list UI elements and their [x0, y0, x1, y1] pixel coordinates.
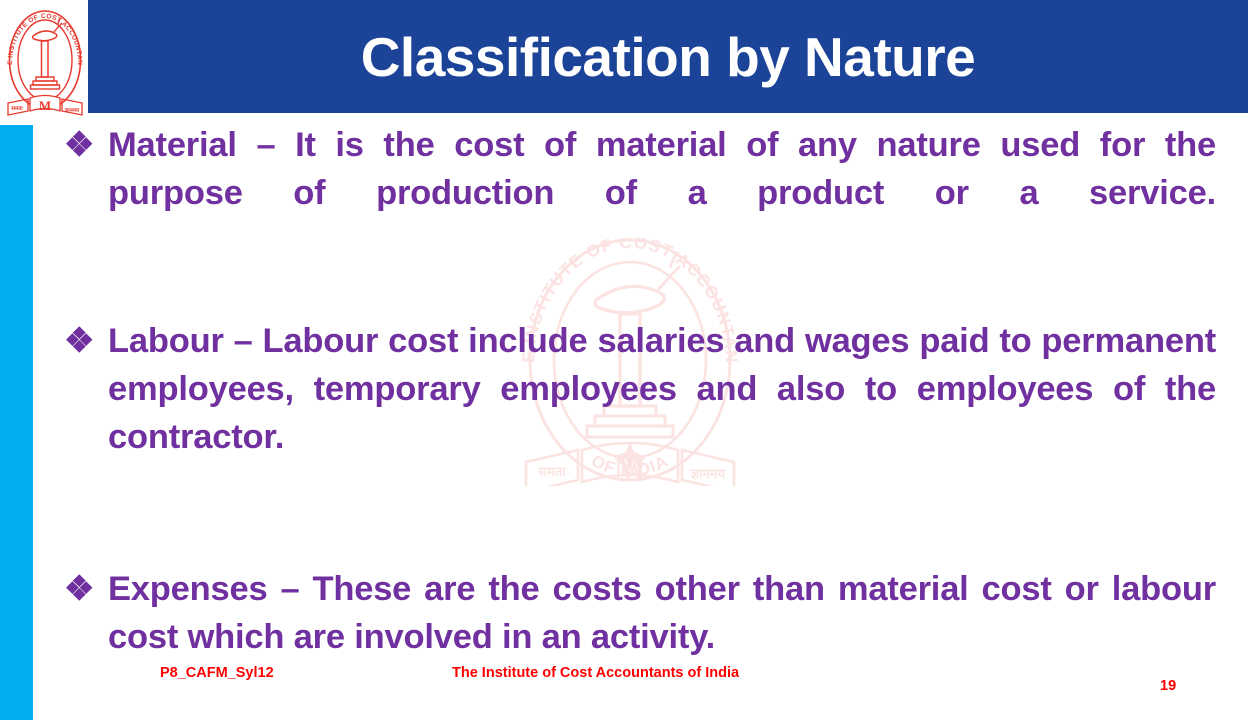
svg-text:समता: समता — [10, 106, 23, 112]
bullet-item-expenses: ❖ Expenses – These are the costs other t… — [64, 566, 1216, 662]
institute-logo-icon: THE INSTITUTE OF COST ACCOUNTANTS OF IND… — [2, 2, 88, 122]
bullet-text-material: Material – It is the cost of material of… — [108, 122, 1216, 266]
bullet-item-material: ❖ Material – It is the cost of material … — [64, 122, 1216, 266]
slide-body: ❖ Material – It is the cost of material … — [64, 122, 1216, 642]
page-number: 19 — [1160, 678, 1176, 694]
page-title: Classification by Nature — [88, 0, 1248, 113]
diamond-bullet-icon: ❖ — [64, 122, 94, 169]
svg-text:ज्ञानमय: ज्ञानमय — [64, 108, 80, 114]
footer-subject-code: P8_CAFM_Syl12 — [160, 665, 274, 681]
bullet-text-expenses: Expenses – These are the costs other tha… — [108, 566, 1216, 662]
footer-institute-name: The Institute of Cost Accountants of Ind… — [452, 665, 739, 681]
svg-text:M: M — [39, 98, 51, 113]
diamond-bullet-icon: ❖ — [64, 566, 94, 613]
left-accent-strip — [0, 125, 33, 720]
diamond-bullet-icon: ❖ — [64, 318, 94, 365]
slide-canvas: Classification by Nature THE INSTITUTE O… — [0, 0, 1248, 720]
bullet-text-labour: Labour – Labour cost include salaries an… — [108, 318, 1216, 510]
bullet-item-labour: ❖ Labour – Labour cost include salaries … — [64, 318, 1216, 510]
